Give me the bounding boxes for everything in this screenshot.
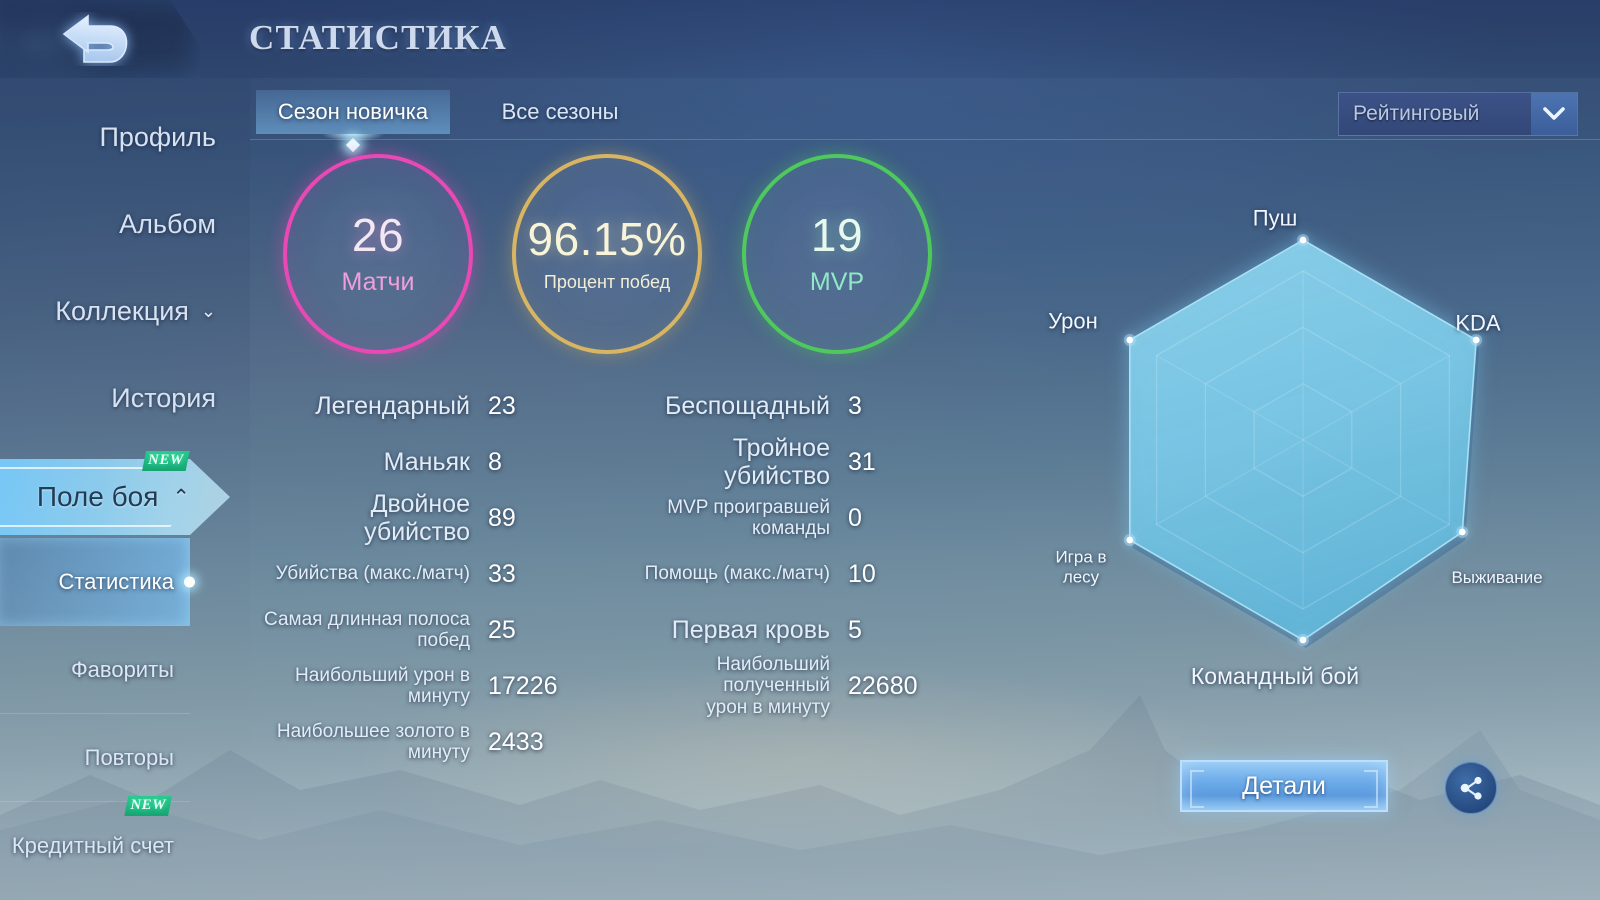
- page-title: СТАТИСТИКА: [249, 18, 507, 58]
- sidebar-item-label: Профиль: [99, 122, 216, 153]
- sidebar-item-label: Альбом: [119, 209, 216, 240]
- stat-circle-matches: 26 Матчи: [283, 154, 473, 354]
- stat-value: 10: [848, 560, 876, 589]
- table-row: Самая длинная полосапобед 25: [260, 602, 620, 658]
- stat-label: Наибольший урон вминуту: [260, 665, 488, 708]
- table-row: Убийства (макс./матч) 33: [260, 546, 620, 602]
- stat-label: Наибольшее золото вминуту: [260, 721, 488, 764]
- radar-vertex-5: [1126, 337, 1133, 344]
- share-icon: [1456, 773, 1486, 803]
- tab-rookie-season[interactable]: Сезон новичка: [256, 90, 450, 134]
- stat-label: Тройное убийство: [620, 434, 848, 490]
- top-bar: [0, 0, 1600, 78]
- radar-axis-label: Выживание: [1451, 568, 1542, 588]
- stat-value: 8: [488, 448, 502, 477]
- sidebar-item-collection[interactable]: Коллекция ⌄: [0, 274, 232, 348]
- stat-value: 0: [848, 504, 862, 533]
- radar-chart: ПушKDAВыживаниеКомандный бойИгра в лесуУ…: [1010, 128, 1590, 688]
- details-button-label: Детали: [1242, 772, 1326, 801]
- new-badge: NEW: [124, 796, 172, 816]
- stat-value: 17226: [488, 672, 558, 701]
- sidebar-item-album[interactable]: Альбом: [0, 187, 232, 261]
- stat-label: Наибольший полученныйурон в минуту: [620, 654, 848, 718]
- stat-label: Самая длинная полосапобед: [260, 609, 488, 652]
- stat-label: Беспощадный: [620, 392, 848, 420]
- new-badge: NEW: [142, 451, 190, 471]
- sidebar-item-label: Кредитный счет: [12, 833, 174, 859]
- stat-circle-winrate: 96.15% Процент побед: [512, 154, 702, 354]
- stat-value: 89: [488, 504, 516, 533]
- radar-axis-label: Урон: [1048, 308, 1098, 333]
- stat-value: 33: [488, 560, 516, 589]
- stat-label: Первая кровь: [620, 616, 848, 644]
- radar-chart-svg: [1010, 128, 1590, 688]
- stat-circle-value: 19: [811, 212, 863, 258]
- stat-label: Убийства (макс./матч): [260, 563, 488, 584]
- stats-column-left: Легендарный 23 Маньяк 8 Двойное убийство…: [260, 378, 620, 770]
- back-button[interactable]: [0, 0, 200, 78]
- sidebar-item-label: Коллекция: [55, 296, 189, 327]
- sidebar-item-label: История: [111, 383, 216, 414]
- table-row: Легендарный 23: [260, 378, 620, 434]
- share-button[interactable]: [1445, 762, 1497, 814]
- sidebar-item-label: Фавориты: [71, 657, 174, 683]
- sidebar-item-label-wrap: Поле боя ⌃: [0, 459, 230, 535]
- stat-label: Двойное убийство: [260, 490, 488, 546]
- sidebar-item-replays[interactable]: Повторы: [0, 714, 190, 802]
- stat-label: Помощь (макс./матч): [620, 563, 848, 584]
- radar-vertex-3: [1300, 637, 1307, 644]
- back-arrow-icon[interactable]: [54, 12, 140, 66]
- stat-label: Легендарный: [260, 392, 488, 420]
- radar-axis-label: KDA: [1455, 310, 1500, 335]
- stat-circle-value: 26: [352, 212, 404, 258]
- tab-label: Все сезоны: [502, 99, 619, 125]
- stat-value: 22680: [848, 672, 918, 701]
- sidebar-item-credit-score[interactable]: Кредитный счет NEW: [0, 802, 190, 890]
- sidebar-item-label: Поле боя: [37, 481, 159, 513]
- radar-vertex-0: [1300, 237, 1307, 244]
- radar-axis-label: Командный бой: [1191, 663, 1359, 689]
- radar-vertex-4: [1126, 537, 1133, 544]
- table-row: Беспощадный 3: [620, 378, 980, 434]
- mode-select-value: Рейтинговый: [1339, 102, 1531, 126]
- sidebar-item-label: Статистика: [58, 569, 174, 595]
- tab-all-seasons[interactable]: Все сезоны: [470, 90, 650, 134]
- table-row: Наибольший полученныйурон в минуту 22680: [620, 658, 980, 714]
- table-row: Тройное убийство 31: [620, 434, 980, 490]
- radar-vertex-1: [1473, 337, 1480, 344]
- table-row: Маньяк 8: [260, 434, 620, 490]
- sidebar-item-profile[interactable]: Профиль: [0, 100, 232, 174]
- table-row: Наибольший урон вминуту 17226: [260, 658, 620, 714]
- details-button[interactable]: Детали: [1180, 760, 1388, 812]
- sidebar-item-battlefield[interactable]: Поле боя ⌃ NEW: [0, 459, 230, 535]
- stats-column-right: Беспощадный 3 Тройное убийство 31 MVP пр…: [620, 378, 980, 714]
- sidebar-item-statistics[interactable]: Статистика: [0, 538, 190, 626]
- stat-circle-mvp: 19 MVP: [742, 154, 932, 354]
- table-row: Первая кровь 5: [620, 602, 980, 658]
- table-row: Наибольшее золото вминуту 2433: [260, 714, 620, 770]
- stat-value: 2433: [488, 728, 544, 757]
- stat-circle-label: MVP: [810, 268, 864, 297]
- radar-axis-label: Пуш: [1253, 205, 1297, 230]
- radar-vertex-2: [1459, 529, 1466, 536]
- stat-value: 31: [848, 448, 876, 477]
- summary-circles: 26 Матчи 96.15% Процент побед 19 MVP: [250, 140, 950, 370]
- sidebar-item-label: Повторы: [85, 745, 174, 771]
- stat-value: 5: [848, 616, 862, 645]
- tab-label: Сезон новичка: [278, 99, 428, 125]
- stat-circle-label: Матчи: [342, 268, 415, 297]
- stat-label: Маньяк: [260, 448, 488, 476]
- radar-axis-label: Игра в лесу: [1055, 547, 1106, 586]
- chevron-up-icon: ⌃: [172, 485, 190, 510]
- table-row: MVP проигравшейкоманды 0: [620, 490, 980, 546]
- stat-circle-value: 96.15%: [527, 216, 686, 262]
- stat-value: 25: [488, 616, 516, 645]
- stat-circle-label: Процент побед: [544, 272, 670, 293]
- table-row: Помощь (макс./матч) 10: [620, 546, 980, 602]
- sidebar-item-favorites[interactable]: Фавориты: [0, 626, 190, 714]
- table-row: Двойное убийство 89: [260, 490, 620, 546]
- content-panel: Сезон новичка Все сезоны Рейтинговый 26 …: [250, 78, 1600, 900]
- chevron-down-icon: ⌄: [201, 301, 216, 322]
- stat-value: 3: [848, 392, 862, 421]
- game-statistics-screen: СТАТИСТИКА Профиль Альбом Коллекция ⌄ Ис…: [0, 0, 1600, 900]
- sidebar-item-history[interactable]: История: [0, 361, 232, 435]
- sidebar: Профиль Альбом Коллекция ⌄ История Поле …: [0, 78, 250, 900]
- stat-label: MVP проигравшейкоманды: [620, 497, 848, 540]
- stat-value: 23: [488, 392, 516, 421]
